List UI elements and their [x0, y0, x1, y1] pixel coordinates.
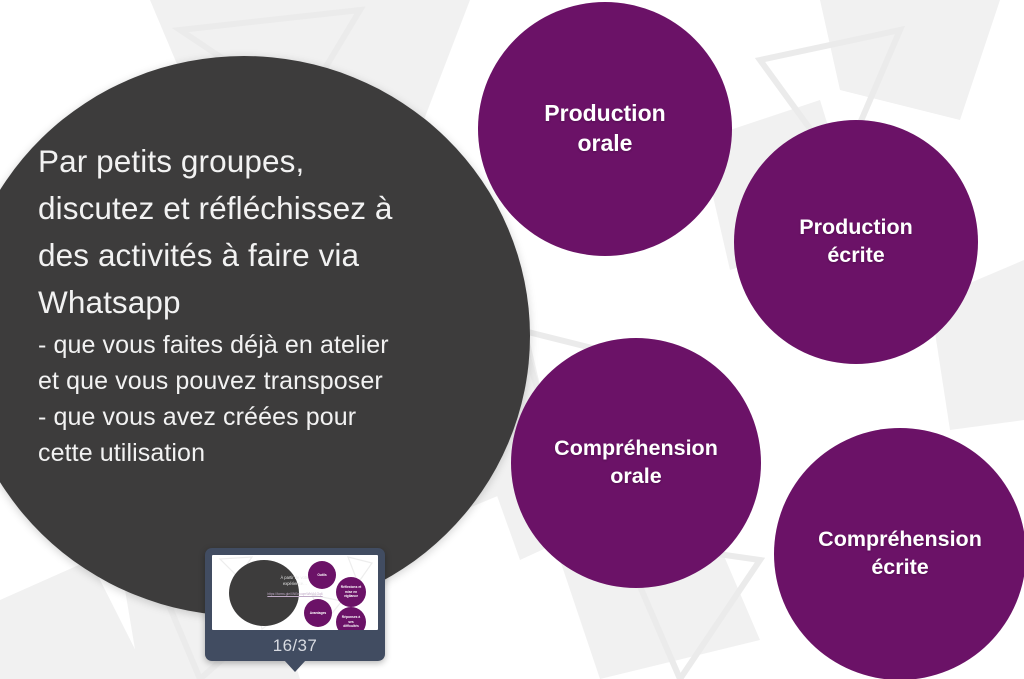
presentation-slide: Par petits groupes, discutez et réfléchi… [0, 0, 1024, 679]
skill-circle-comprehension-ecrite[interactable]: Compréhension écrite [774, 428, 1024, 679]
thumbnail-circle-reflexions: Réflexions et mise en vigilance [336, 577, 366, 607]
slide-navigator-tooltip[interactable]: À partir de votre expérience… https://fo… [205, 548, 385, 661]
skill-circle-label: Compréhension écrite [818, 526, 982, 582]
tooltip-caret-icon [284, 660, 306, 672]
slide-thumbnail-preview[interactable]: À partir de votre expérience… https://fo… [212, 555, 378, 630]
instruction-text-group: Par petits groupes, discutez et réfléchi… [38, 138, 488, 471]
instruction-subline: - que vous faites déjà en atelier et que… [38, 327, 488, 471]
thumbnail-circle-outils: Outils [308, 561, 336, 589]
thumbnail-circle-reponses: Réponses à ses difficultés [336, 607, 366, 630]
skill-circle-label: Compréhension orale [554, 435, 718, 491]
skill-circle-production-ecrite[interactable]: Production écrite [734, 120, 978, 364]
thumbnail-circle-avantages: Avantages [304, 599, 332, 627]
slide-counter: 16/37 [212, 630, 378, 661]
skill-circle-production-orale[interactable]: Production orale [478, 2, 732, 256]
skill-circle-label: Production écrite [799, 214, 912, 270]
skill-circle-comprehension-orale[interactable]: Compréhension orale [511, 338, 761, 588]
instruction-headline: Par petits groupes, discutez et réfléchi… [38, 138, 488, 326]
skill-circle-label: Production orale [544, 99, 665, 159]
